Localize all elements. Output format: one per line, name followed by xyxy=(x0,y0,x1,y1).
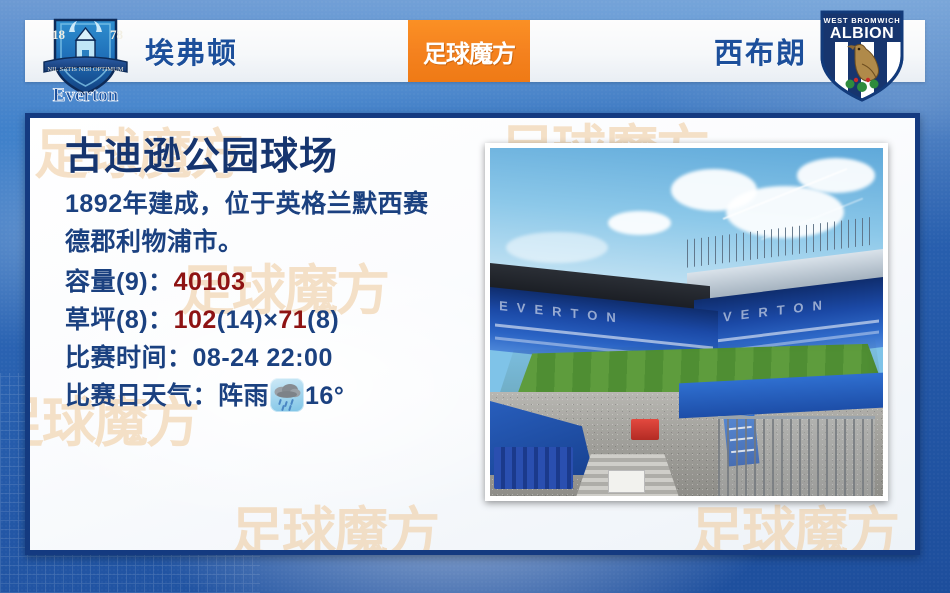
stadium-info-panel: 足球魔方 足球魔方 足球魔方 足球魔方 足球魔方 足球魔方 古迪逊公园球场 18… xyxy=(25,113,920,555)
red-equipment-box xyxy=(631,419,659,440)
match-temperature: 16° xyxy=(305,382,344,410)
svg-text:Everton: Everton xyxy=(53,85,119,105)
svg-text:78: 78 xyxy=(110,27,124,42)
match-weather-value: 阵雨 xyxy=(218,382,269,410)
foreground-seats xyxy=(494,447,573,489)
cloud xyxy=(506,232,608,263)
stand-wordmark: EVERTON xyxy=(706,296,832,326)
slide-root: 埃弗顿 西布朗 足球魔方 18 78 NIL SATIS NISI OPTIMU… xyxy=(0,0,950,593)
watermark-text: 足球魔方 xyxy=(230,488,438,550)
svg-text:ALBION: ALBION xyxy=(830,25,894,42)
pitch-size-row: 草坪(8)：102(14)×71(8) xyxy=(65,301,495,339)
photo-image: EVERTON EVERTON xyxy=(490,148,883,496)
svg-text:NIL SATIS NISI OPTIMUM: NIL SATIS NISI OPTIMUM xyxy=(47,66,123,73)
pitch-length-value: 102 xyxy=(174,306,217,334)
pitch-size-separator: × xyxy=(263,306,278,334)
capacity-value: 40103 xyxy=(174,268,246,296)
stadium-description-line-1: 1892年建成，位于英格兰默西赛 xyxy=(65,186,495,223)
pitch-width-rank: (8) xyxy=(307,306,339,334)
everton-crest-icon: 18 78 NIL SATIS NISI OPTIMUM Everton xyxy=(33,2,138,105)
stadium-info-block: 古迪逊公园球场 1892年建成，位于英格兰默西赛 德郡利物浦市。 容量(9)：4… xyxy=(65,136,495,415)
match-time-value: 08-24 22:00 xyxy=(193,344,333,372)
match-weather-row: 比赛日天气：阵雨 16° xyxy=(65,377,495,415)
capacity-row: 容量(9)：40103 xyxy=(65,263,495,301)
stadium-description-line-2: 德郡利物浦市。 xyxy=(65,224,495,261)
cloud-shape xyxy=(273,383,301,398)
svg-text:18: 18 xyxy=(52,27,66,42)
match-time-row: 比赛时间：08-24 22:00 xyxy=(65,339,495,377)
cloud xyxy=(797,158,876,193)
svg-text:WEST BROMWICH: WEST BROMWICH xyxy=(823,16,900,25)
pitch-width-value: 71 xyxy=(278,306,307,334)
site-logo-text: 足球魔方 xyxy=(423,34,515,69)
cloud xyxy=(608,211,671,235)
goodison-park-photo: EVERTON EVERTON xyxy=(485,143,888,501)
pitch-size-label: 草坪(8)： xyxy=(65,306,174,334)
site-logo-badge[interactable]: 足球魔方 xyxy=(408,20,530,82)
metal-railing xyxy=(718,416,875,496)
stadium-title: 古迪逊公园球场 xyxy=(65,136,495,180)
away-team-name: 西布朗 xyxy=(714,20,807,82)
home-team-name: 埃弗顿 xyxy=(145,20,238,82)
pitch-length-rank: (14) xyxy=(217,306,263,334)
stand-wordmark: EVERTON xyxy=(499,298,625,326)
match-weather-label: 比赛日天气： xyxy=(65,382,218,410)
capacity-label: 容量(9)： xyxy=(65,268,174,296)
warning-placard xyxy=(608,470,645,493)
west-bromwich-albion-crest-icon: WEST BROMWICH ALBION xyxy=(812,4,912,104)
rain-shower-icon xyxy=(270,378,304,412)
match-time-label: 比赛时间： xyxy=(65,344,193,372)
